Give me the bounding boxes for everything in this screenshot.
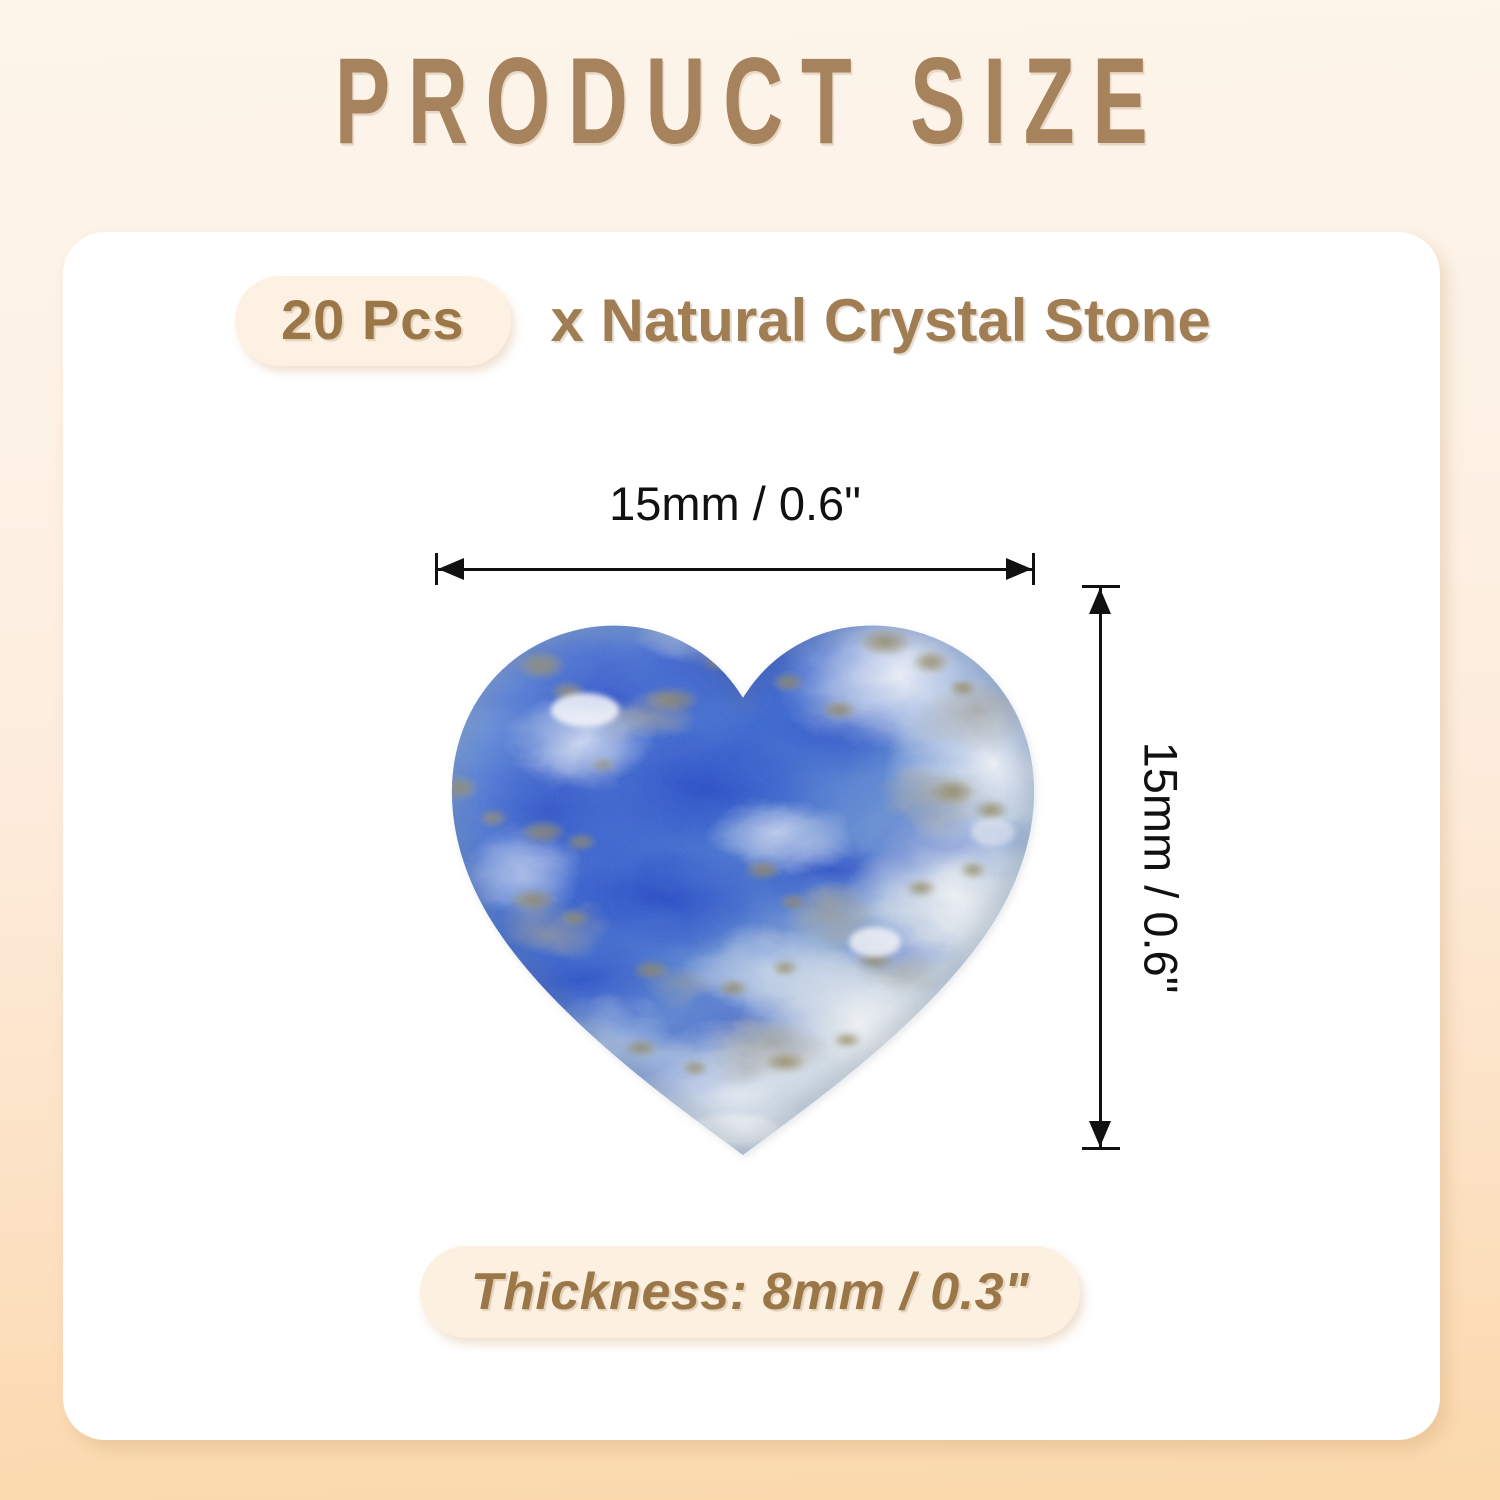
page-title: PRODUCT SIZE — [150, 38, 1350, 167]
arrow-down-head-icon — [1089, 1121, 1111, 1147]
arrow-up-head-icon — [1089, 588, 1111, 614]
title-block: PRODUCT SIZE — [0, 48, 1500, 157]
height-dimension-label: 15mm / 0.6" — [1138, 742, 1185, 994]
height-arrow-bottom-tick — [1082, 1147, 1120, 1150]
width-dimension-label: 15mm / 0.6" — [435, 480, 1035, 527]
height-arrow-line — [1099, 588, 1102, 1147]
thickness-pill-badge: Thickness: 8mm / 0.3" — [420, 1246, 1080, 1338]
product-card: 20 Pcs x Natural Crystal Stone 15mm / 0.… — [63, 232, 1440, 1440]
product-image-heart-stone — [433, 570, 1053, 1170]
quantity-pill-badge: 20 Pcs — [235, 276, 511, 366]
thickness-label: Thickness: 8mm / 0.3" — [471, 1266, 1029, 1318]
height-dimension-arrow — [1070, 585, 1132, 1150]
height-dimension-label-wrap: 15mm / 0.6" — [1132, 585, 1190, 1150]
quantity-pill-label: 20 Pcs — [281, 292, 465, 348]
heart-stone-illustration — [433, 570, 1053, 1170]
quantity-row: 20 Pcs x Natural Crystal Stone — [235, 276, 1211, 366]
quantity-description: x Natural Crystal Stone — [551, 291, 1211, 351]
height-dimension-annotation: 15mm / 0.6" — [1070, 585, 1190, 1150]
